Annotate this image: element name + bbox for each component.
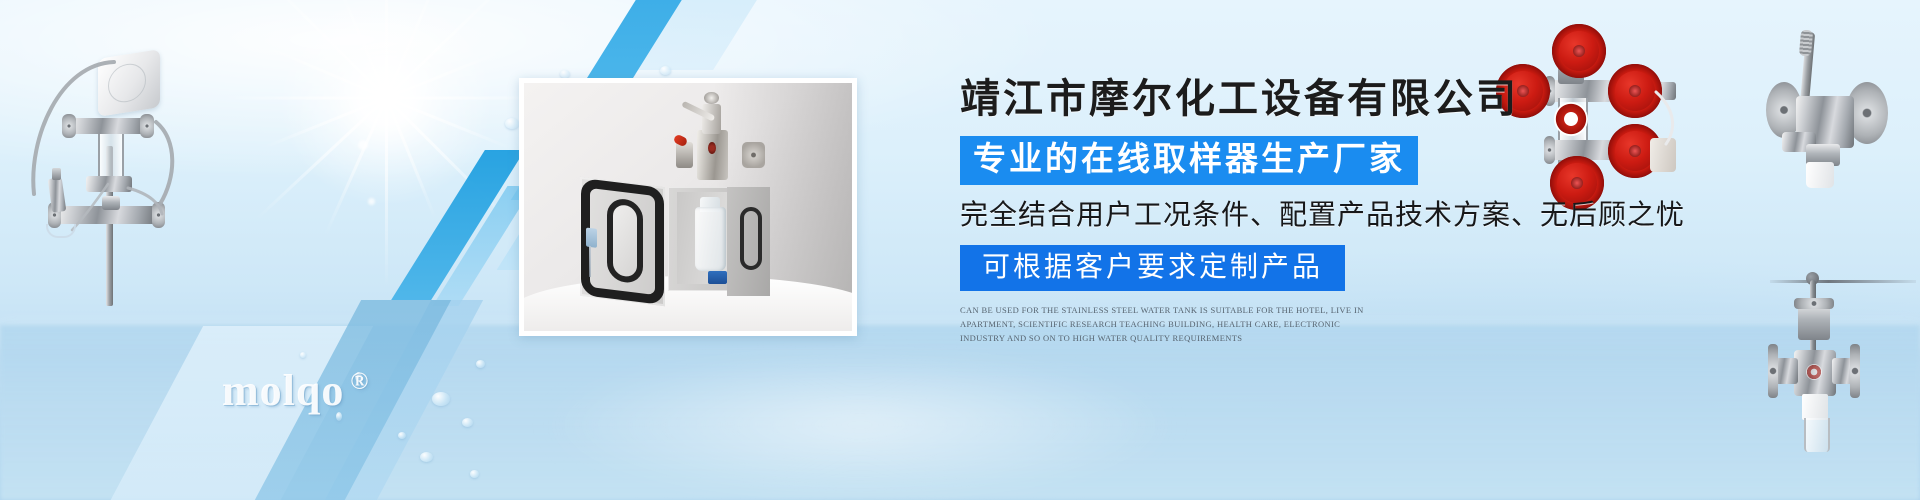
water-droplet [300, 352, 306, 358]
left-equipment-image [10, 18, 190, 303]
custom-product-badge: 可根据客户要求定制产品 [960, 245, 1345, 291]
water-droplet [462, 418, 473, 427]
lens-flare-dot [358, 140, 368, 150]
english-description: CAN BE USED FOR THE STAINLESS STEEL WATE… [960, 304, 1374, 345]
background-mist [540, 350, 1180, 500]
lens-flare-dot [368, 198, 375, 205]
company-name: 靖江市摩尔化工设备有限公司 [960, 76, 1660, 122]
tubing-lines [10, 18, 190, 303]
water-droplet [505, 118, 519, 129]
water-droplet [432, 392, 450, 406]
registered-trademark-icon: ® [350, 369, 369, 395]
water-droplet [470, 470, 479, 478]
brand-watermark-text: molqo [222, 366, 344, 415]
water-droplet [476, 360, 485, 368]
center-product-photo [519, 78, 857, 336]
water-droplet [420, 452, 433, 462]
right-lever-sampler-image [1760, 24, 1910, 224]
brand-watermark: molqo® [222, 365, 369, 416]
water-droplet [398, 432, 406, 439]
banner-text-block: 靖江市摩尔化工设备有限公司 专业的在线取样器生产厂家 完全结合用户工况条件、配置… [960, 76, 1660, 346]
promo-banner: 靖江市摩尔化工设备有限公司 专业的在线取样器生产厂家 完全结合用户工况条件、配置… [0, 0, 1920, 500]
water-droplet [660, 66, 671, 75]
water-droplet [560, 70, 570, 78]
photo-valve-assembly [685, 90, 751, 189]
brand-seal-icon [1806, 364, 1822, 380]
right-flanged-valve-image [1768, 262, 1918, 462]
headline-highlight: 专业的在线取样器生产厂家 [960, 136, 1418, 185]
subheadline: 完全结合用户工况条件、配置产品技术方案、无后顾之忧 [960, 199, 1660, 231]
